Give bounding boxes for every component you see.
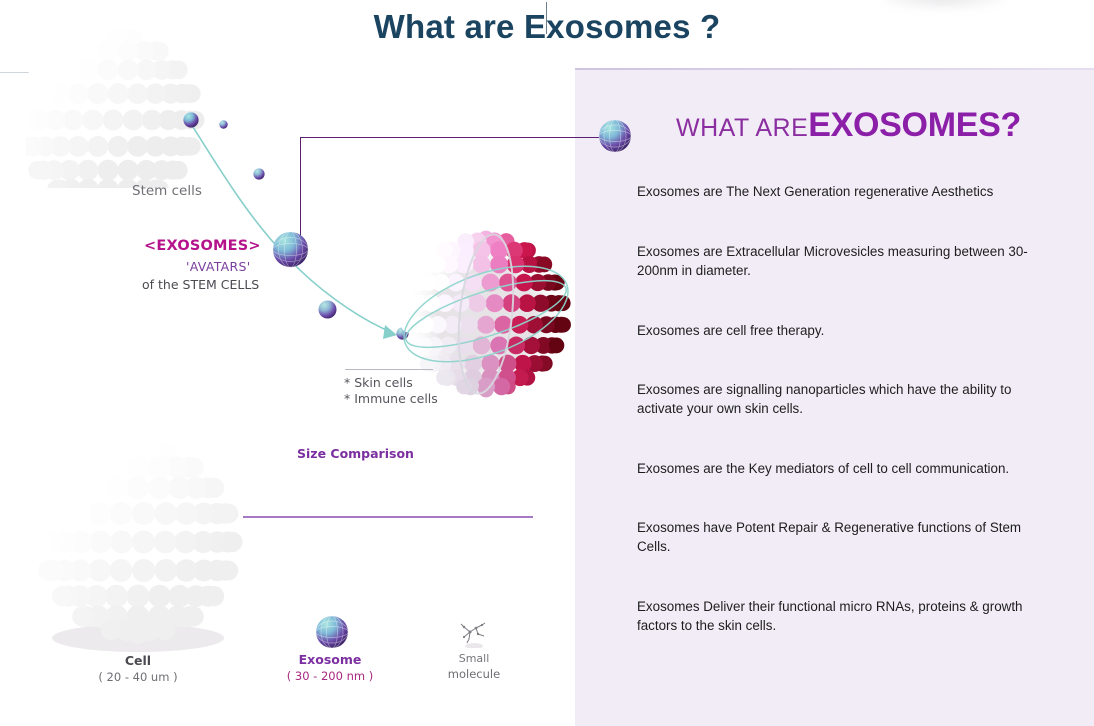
size-comparison-baseline [243,516,533,518]
legend-item-small-molecule: Small molecule [434,652,514,682]
panel-connector-line [556,137,604,138]
exosome-travel-path [175,105,435,355]
legend-item-cell: Cell ( 20 - 40 um ) [78,653,198,685]
bullet-item: Exosomes Deliver their functional micro … [637,597,1032,636]
cell-sphere-icon [18,442,268,657]
bullet-item: Exosomes are Extracellular Microvesicles… [637,242,1032,281]
exosome-particle-icon [253,168,265,180]
label-stem-cells: Stem cells [132,183,202,199]
text-cursor-caret [546,2,547,34]
legend-item-exosome: Exosome ( 30 - 200 nm ) [270,652,390,684]
exosome-sphere-legend-icon [315,615,349,649]
panel-heading-small: WHAT ARE [676,114,808,142]
slide-canvas: What are Exosomes ? [0,0,1094,726]
label-size-comparison: Size Comparison [297,446,414,461]
panel-heading-big: EXOSOMES? [808,106,1021,144]
bullet-item: Exosomes have Potent Repair & Regenerati… [637,518,1032,557]
bullet-item: Exosomes are cell free therapy. [637,321,1032,340]
panel-heading: WHAT AREEXOSOMES? [676,108,1021,142]
bullet-item: Exosomes are signalling nanoparticles wh… [637,380,1032,419]
label-exosomes: <EXOSOMES> [144,238,261,254]
exosome-sphere-header-icon [598,119,632,153]
exosome-particle-icon [219,120,228,129]
legend-name: Small [434,652,514,667]
panel-top-border [575,68,1094,70]
label-of-the-stem-cells: of the STEM CELLS [142,277,259,292]
target-cells-divider [345,369,433,370]
legend-size: ( 30 - 200 nm ) [270,669,390,685]
legend-name: Cell [78,653,198,670]
bullet-item: Exosomes are The Next Generation regener… [637,182,1032,201]
exosome-particle-icon [183,112,199,128]
bullet-item: Exosomes are the Key mediators of cell t… [637,459,1032,478]
exosome-particle-icon [318,300,337,319]
legend-size: ( 20 - 40 um ) [78,670,198,686]
label-target-cells: * Skin cells * Immune cells [344,375,438,406]
label-avatars: 'AVATARS' [186,259,251,274]
legend-name: Exosome [270,652,390,669]
small-molecule-icon [456,618,492,648]
exosome-sphere-main-icon [272,231,309,268]
legend-size: molecule [434,667,514,683]
